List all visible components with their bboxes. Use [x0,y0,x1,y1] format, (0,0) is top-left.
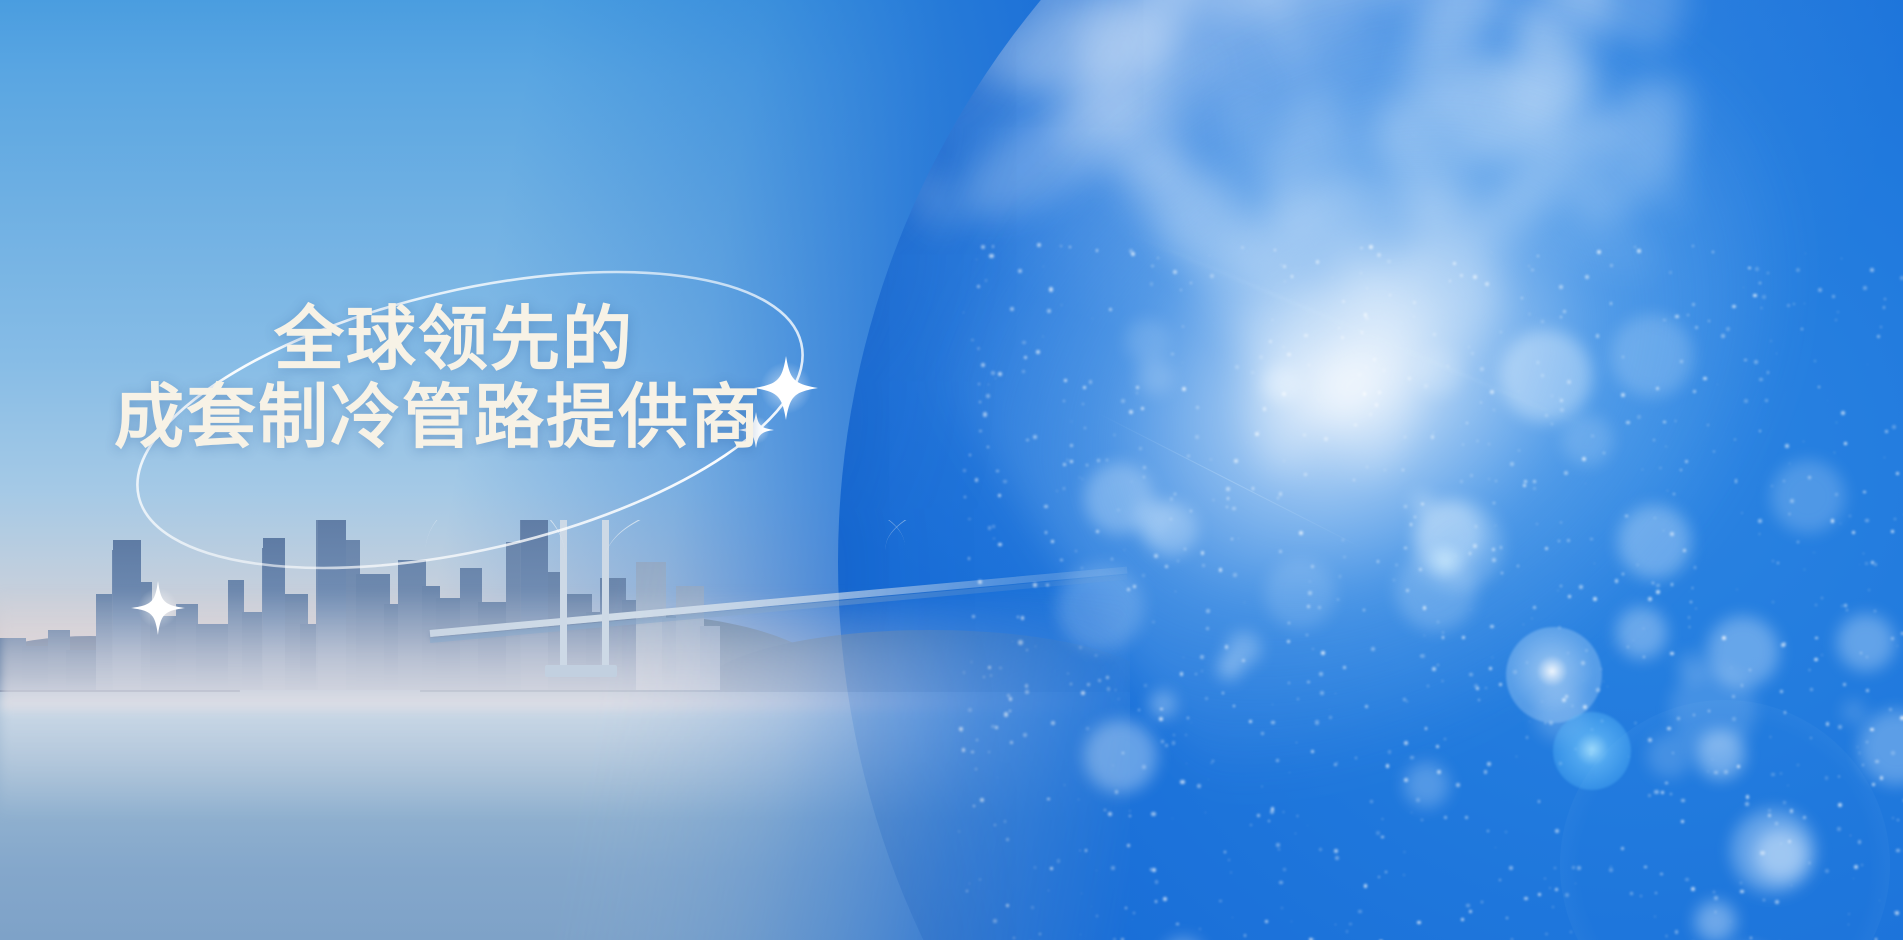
city-scene [0,520,1130,940]
bridge-pier [545,665,617,677]
headline-block: 全球领先的 成套制冷管路提供商 [114,300,874,456]
suspension-bridge [430,500,1130,760]
hero-banner: 全球领先的 成套制冷管路提供商 [0,0,1903,940]
headline-line-1: 全球领先的 [274,300,874,378]
headline-line-2: 成套制冷管路提供商 [114,378,874,456]
